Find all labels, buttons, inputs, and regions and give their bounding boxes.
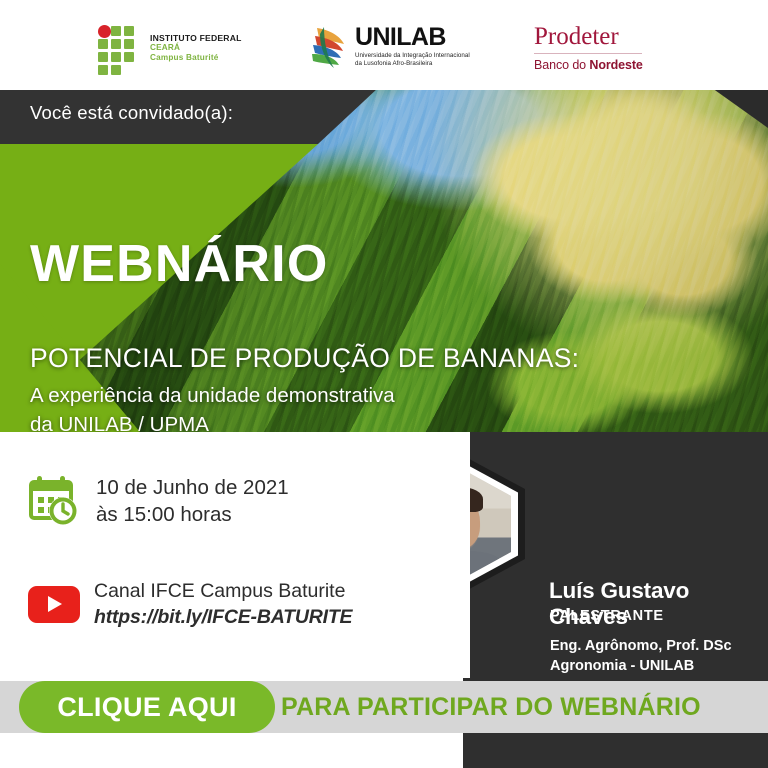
click-here-button[interactable]: CLIQUE AQUI [19,681,275,733]
webinar-subtitle-line-2: da UNILAB / UPMA [30,410,579,432]
ifce-line-2: CEARÁ [150,43,242,53]
unilab-sub-line-1: Universidade da Integração Internacional [355,52,470,60]
date-text: 10 de Junho de 2021 às 15:00 horas [96,474,289,529]
webinar-title: POTENCIAL DE PRODUÇÃO DE BANANAS: [30,342,579,375]
prodeter-bank-bold: Nordeste [589,58,642,72]
unilab-logo-text: UNILAB Universidade da Integração Intern… [355,24,470,68]
speaker-credential-line-1: Eng. Agrônomo, Prof. DSc [550,638,732,654]
youtube-icon[interactable] [28,586,80,623]
date-line-1: 10 de Junho de 2021 [96,474,289,501]
prodeter-bank-name: Banco do Nordeste [534,58,643,72]
details-section: 10 de Junho de 2021 às 15:00 horas Canal… [0,432,470,678]
ifce-red-dot-icon [98,25,111,38]
date-row: 10 de Junho de 2021 às 15:00 horas [28,474,289,529]
prodeter-divider [534,53,642,54]
hero-section: Você está convidado(a): WEBNÁRIO POTENCI… [0,88,768,432]
ifce-line-1: INSTITUTO FEDERAL [150,33,242,43]
ifce-logo: INSTITUTO FEDERAL CEARÁ Campus Baturité [98,26,242,70]
prodeter-logo: Prodeter Banco do Nordeste [534,24,643,72]
logo-bar: INSTITUTO FEDERAL CEARÁ Campus Baturité … [0,0,768,90]
unilab-wordmark: UNILAB [355,26,470,50]
prodeter-bank-prefix: Banco do [534,58,589,72]
channel-name: Canal IFCE Campus Baturite [94,578,352,604]
unilab-flame-icon [310,24,350,70]
channel-row[interactable]: Canal IFCE Campus Baturite https://bit.l… [28,578,352,630]
webinar-poster: INSTITUTO FEDERAL CEARÁ Campus Baturité … [0,0,768,768]
channel-url[interactable]: https://bit.ly/IFCE-BATURITE [94,604,352,630]
unilab-sub-line-2: da Lusofonia Afro-Brasileira [355,60,470,68]
hero-text-block: WEBNÁRIO POTENCIAL DE PRODUÇÃO DE BANANA… [30,238,579,432]
cta-trailing-text: PARA PARTICIPAR DO WEBNÁRIO [281,693,701,722]
click-here-button-label: CLIQUE AQUI [57,692,236,723]
cta-trailing-text-wrap: PARA PARTICIPAR DO WEBNÁRIO [281,681,701,733]
date-line-2: às 15:00 horas [96,501,289,528]
bottom-dark-strip [463,733,768,768]
unilab-logo: UNILAB Universidade da Integração Intern… [310,24,470,70]
event-type-heading: WEBNÁRIO [30,238,579,290]
ifce-logo-text: INSTITUTO FEDERAL CEARÁ Campus Baturité [150,33,242,62]
channel-text: Canal IFCE Campus Baturite https://bit.l… [94,578,352,630]
speaker-credential-line-2: Agronomia - UNILAB [550,658,694,674]
greeting-text: Você está convidado(a): [30,102,233,124]
webinar-subtitle-line-1: A experiência da unidade demonstrativa [30,381,579,410]
prodeter-wordmark: Prodeter [534,24,643,49]
ifce-logo-mark [98,26,142,70]
calendar-clock-icon [28,475,82,527]
speaker-role: PALESTRANTE [550,608,664,624]
ifce-line-3: Campus Baturité [150,53,242,63]
